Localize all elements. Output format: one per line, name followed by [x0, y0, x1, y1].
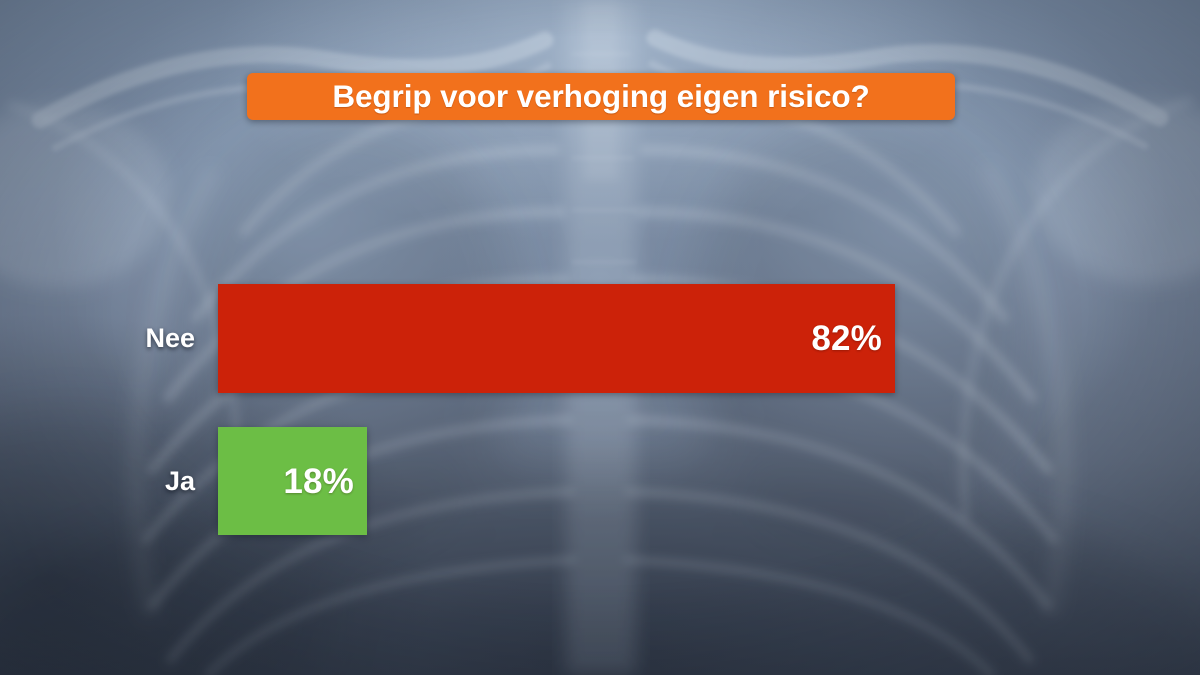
- bar-row: Nee 82%: [0, 284, 895, 393]
- poll-result-graphic: Begrip voor verhoging eigen risico? Nee …: [0, 0, 1200, 675]
- bar-value-label-ja: 18%: [283, 464, 354, 499]
- bar-value-label-nee: 82%: [811, 321, 882, 356]
- bar-nee: 82%: [218, 284, 895, 393]
- bar-chart: Nee 82% Ja 18%: [0, 0, 1200, 675]
- bar-ja: 18%: [218, 427, 367, 535]
- bar-row: Ja 18%: [0, 427, 367, 535]
- bar-category-label-nee: Nee: [0, 325, 195, 352]
- bar-category-label-ja: Ja: [0, 468, 195, 495]
